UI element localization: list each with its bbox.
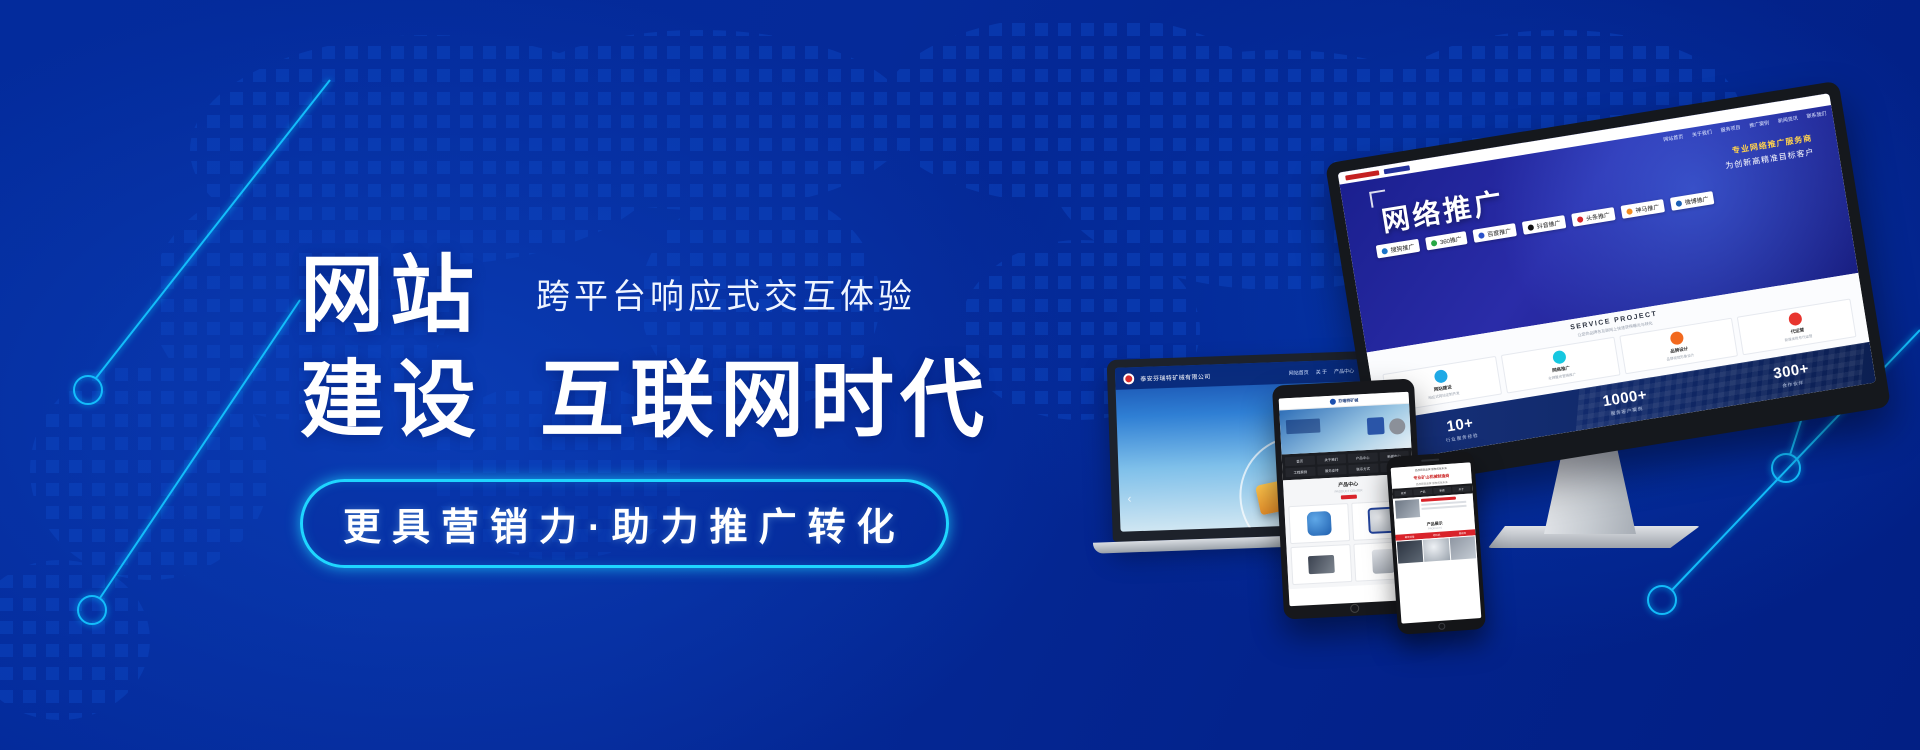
headline-accent: 互联网时代 — [540, 355, 990, 446]
tablet-nav-item[interactable]: 首页 — [1285, 456, 1315, 467]
tablet-brand-logo-icon — [1329, 398, 1335, 404]
monitor-screen: 网站首页 关于我们 服务项目 推广案例 新闻资讯 联系我们 网络推广 专业网络推… — [1338, 93, 1876, 462]
brand-badge-label: 360推广 — [1439, 234, 1462, 246]
headline-line-2: 建设 互联网时代 — [300, 355, 1100, 446]
brand-dot-icon — [1577, 216, 1584, 223]
tablet-product-card[interactable] — [1290, 544, 1351, 585]
brand-badge-label: 头条推广 — [1585, 210, 1610, 223]
tablet-nav-item[interactable]: 服务支持 — [1317, 465, 1347, 476]
tablet-product-card[interactable] — [1288, 503, 1349, 544]
product-image — [1306, 511, 1331, 536]
news-text-lines — [1421, 495, 1472, 516]
brand-badge: 百度推广 — [1472, 223, 1517, 243]
tablet-hero-product-1 — [1367, 417, 1385, 435]
phone-product-card[interactable] — [1449, 536, 1476, 560]
site-logo-blue-icon — [1384, 165, 1410, 174]
tablet-nav-item[interactable]: 关于我们 — [1316, 454, 1346, 465]
monitor-site-topbar — [1338, 93, 1832, 184]
phone-mockup: 品质铸就品牌 服务成就未来 专业矿山机械制造商 品质铸就品牌 服务成就未来 首页… — [1386, 451, 1486, 635]
tablet-brand-name: 芬瑞特矿械 — [1338, 397, 1358, 404]
brand-dot-icon — [1431, 239, 1438, 246]
news-thumbnail — [1395, 499, 1420, 519]
phone-nav-item[interactable]: 产品 — [1413, 488, 1432, 495]
laptop-brand-name: 泰安芬瑞特矿械有限公司 — [1140, 371, 1211, 382]
brand-badge: 神马推广 — [1621, 199, 1666, 219]
brand-badge: 微博推广 — [1670, 191, 1715, 211]
laptop-nav-item[interactable]: 网站首页 — [1289, 369, 1309, 377]
phone-home-button[interactable] — [1438, 623, 1445, 630]
tablet-hero-text-block — [1286, 418, 1321, 434]
brand-dot-icon — [1527, 224, 1534, 231]
brand-badge-label: 抖音推广 — [1536, 218, 1561, 231]
laptop-brand-logo-icon — [1123, 373, 1134, 384]
brand-badge-label: 微博推广 — [1684, 194, 1709, 207]
stat-item: 10+ 行业服务经验 — [1442, 414, 1479, 444]
phone-screen: 品质铸就品牌 服务成就未来 专业矿山机械制造商 品质铸就品牌 服务成就未来 首页… — [1391, 462, 1482, 623]
headline-line-1: 网站 跨平台响应式交互体验 — [300, 250, 1100, 341]
phone-category-item[interactable]: 给料机 — [1433, 533, 1440, 537]
tablet-nav-item[interactable]: 联系方式 — [1348, 463, 1378, 474]
brand-badge: 搜狗推广 — [1376, 239, 1421, 259]
monitor-nav-item[interactable]: 联系我们 — [1806, 110, 1827, 120]
tablet-hero-product-2 — [1389, 418, 1406, 435]
device-mockup-cluster: 泰安芬瑞特矿械有限公司 网站首页 关 于 产品中心 联系我们 芬瑞特 ‹ — [1080, 120, 1920, 640]
brand-badge: 头条推广 — [1571, 207, 1616, 227]
tablet-nav-item[interactable]: 产品中心 — [1348, 452, 1378, 463]
phone-category-item[interactable]: 破碎设备 — [1405, 534, 1415, 539]
headline-copy-block: 网站 跨平台响应式交互体验 建设 互联网时代 更具营销力·助力推广转化 — [300, 250, 1100, 568]
brand-badge: 360推广 — [1425, 231, 1468, 250]
service-icon — [1788, 311, 1803, 326]
phone-product-card[interactable] — [1397, 540, 1424, 564]
tablet-home-button[interactable] — [1350, 604, 1359, 613]
service-icon — [1552, 349, 1567, 364]
laptop-nav-item[interactable]: 关 于 — [1316, 368, 1328, 375]
monitor-nav-item[interactable]: 推广案例 — [1749, 119, 1770, 129]
headline-main-2: 建设 — [300, 355, 484, 446]
tagline-pill: 更具营销力·助力推广转化 — [300, 479, 949, 568]
service-icon — [1670, 330, 1685, 345]
headline-subtitle: 跨平台响应式交互体验 — [536, 269, 916, 318]
tablet-hero-banner — [1279, 404, 1411, 455]
tagline-text: 更具营销力·助力推广转化 — [343, 496, 906, 551]
monitor-nav-item[interactable]: 关于我们 — [1691, 128, 1712, 138]
phone-product-card[interactable] — [1423, 538, 1450, 562]
headline-main-1: 网站 — [300, 250, 480, 341]
phone-speaker-grille — [1421, 459, 1439, 462]
tablet-nav-item[interactable]: 工程案例 — [1285, 467, 1315, 478]
phone-nav-item[interactable]: 新闻 — [1433, 487, 1452, 494]
brand-dot-icon — [1626, 208, 1633, 215]
service-icon — [1433, 369, 1448, 384]
phone-category-item[interactable]: 振动筛 — [1459, 531, 1466, 535]
monitor-nav-item[interactable]: 新闻资讯 — [1777, 115, 1798, 125]
hero-banner: 网站 跨平台响应式交互体验 建设 互联网时代 更具营销力·助力推广转化 泰安芬瑞… — [0, 0, 1920, 750]
brand-dot-icon — [1675, 200, 1682, 207]
brand-dot-icon — [1478, 232, 1485, 239]
site-logo-red-icon — [1345, 170, 1379, 180]
laptop-carousel-prev-icon[interactable]: ‹ — [1127, 491, 1131, 505]
monitor-nav-item[interactable]: 服务项目 — [1720, 124, 1741, 134]
brand-dot-icon — [1381, 247, 1388, 254]
tablet-more-button[interactable] — [1341, 495, 1357, 500]
monitor-hero-subtitle-block: 专业网络推广服务商 为创新高精准目标客户 — [1722, 133, 1815, 172]
phone-product-grid — [1396, 535, 1477, 565]
phone-nav-item[interactable]: 首页 — [1394, 490, 1413, 497]
brand-badge-label: 搜狗推广 — [1390, 242, 1415, 255]
product-image — [1308, 555, 1335, 574]
brand-badge-label: 神马推广 — [1635, 202, 1660, 215]
monitor-nav-item[interactable]: 网站首页 — [1663, 133, 1684, 143]
brand-badge: 抖音推广 — [1522, 215, 1567, 235]
phone-nav-item[interactable]: 关于 — [1452, 485, 1471, 492]
brand-badge-label: 百度推广 — [1487, 226, 1512, 239]
